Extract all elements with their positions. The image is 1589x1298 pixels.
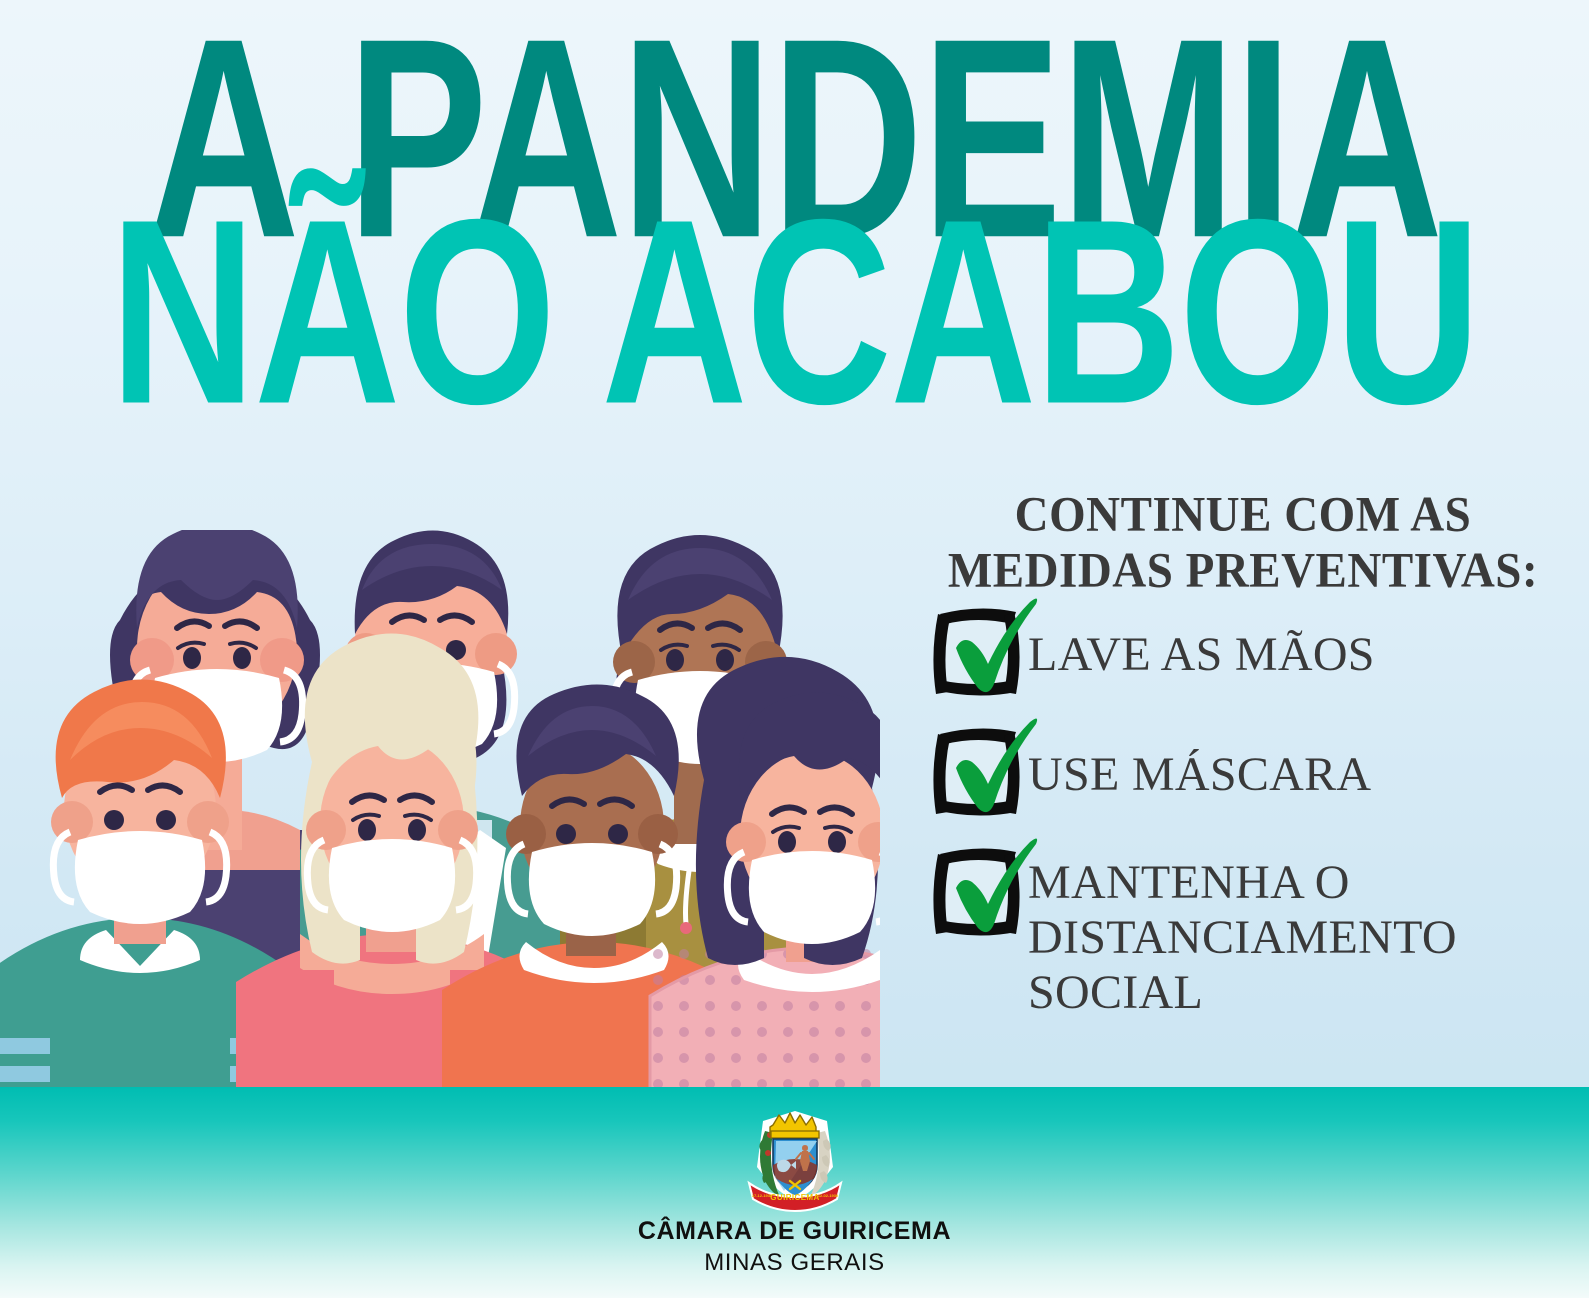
measures-heading-line-1: CONTINUE COM AS xyxy=(928,487,1558,543)
checkbox-checked-icon[interactable] xyxy=(928,848,1020,940)
measure-label: USE MÁSCARA xyxy=(1028,726,1371,803)
footer-band: GUIRICEMA 17-12-1938 12-02-1939 CÂMARA D… xyxy=(0,1087,1589,1298)
measure-item-wear-mask[interactable]: USE MÁSCARA xyxy=(928,726,1558,820)
people-illustration xyxy=(0,530,880,1090)
measure-label: LAVE AS MÃOS xyxy=(1028,606,1375,683)
headline-block: A PANDEMIA NÃO ACABOU xyxy=(0,24,1589,386)
crest-name-text: GUIRICEMA xyxy=(770,1193,819,1202)
footer-organization: CÂMARA DE GUIRICEMA xyxy=(0,1217,1589,1246)
coat-of-arms-icon: GUIRICEMA 17-12-1938 12-02-1939 xyxy=(743,1105,847,1213)
measure-item-wash-hands[interactable]: LAVE AS MÃOS xyxy=(928,606,1558,700)
poster-canvas: A PANDEMIA NÃO ACABOU xyxy=(0,0,1589,1298)
checkbox-checked-icon[interactable] xyxy=(928,728,1020,820)
measure-item-social-distancing[interactable]: MANTENHA O DISTANCIAMENTO SOCIAL xyxy=(928,846,1558,1020)
crest-date-left: 17-12-1938 xyxy=(751,1193,772,1198)
checkbox-checked-icon[interactable] xyxy=(928,608,1020,700)
crest-date-right: 12-02-1939 xyxy=(817,1193,838,1198)
footer-state: MINAS GERAIS xyxy=(0,1249,1589,1277)
measure-label: MANTENHA O DISTANCIAMENTO SOCIAL xyxy=(1028,846,1558,1020)
preventive-measures-block: CONTINUE COM AS MEDIDAS PREVENTIVAS: LAV… xyxy=(928,487,1558,1020)
headline-line-2: NÃO ACABOU xyxy=(79,206,1509,417)
measures-list: LAVE AS MÃOS USE MÁSCARA xyxy=(928,606,1558,1020)
